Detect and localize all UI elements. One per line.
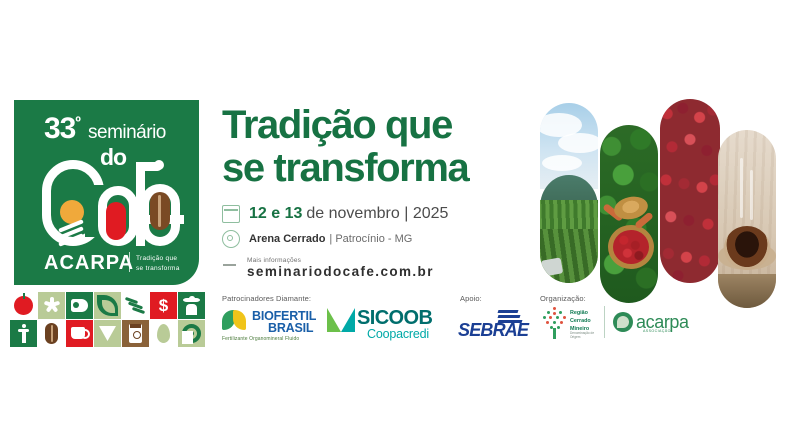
event-info: 12 e 13 de novembro | 2025 Arena Cerrado… [222,205,512,286]
sicoob-logo[interactable]: SICOOB Coopacredi [327,306,445,342]
photo-strip-group [530,95,790,290]
biofertil-tagline: Fertilizante Organomineral Fluido [222,336,299,342]
coffee-flower-icon [38,292,65,319]
coffee-cherries-photo [660,99,720,283]
more-info-label: Mais informações [247,257,434,264]
sebrae-logo[interactable]: SEBRAE [458,310,534,338]
regiao-name: Região Cerrado Mineiro [570,310,591,333]
regiao-sub: Denominação de Origem [570,331,604,339]
acarpa-mark-icon [613,312,633,332]
biofertil-leaf-right-icon [233,310,246,330]
coffee-bean-icon [38,320,65,347]
headline-line2: se transforma [222,147,542,190]
coffee-tree-icon [542,307,568,339]
event-venue-rest: | Patrocínio - MG [329,233,412,245]
acarpa-wordmark: ACARPA [44,252,134,275]
coffee-harvest-worker-photo [600,125,658,303]
coffee-cup-icon [66,320,93,347]
coffee-icon-grid: $ [10,292,205,347]
website-url[interactable]: seminariodocafe.com.br [247,264,434,279]
location-pin-icon [222,230,240,248]
sicoob-triangle-inner-icon [336,308,348,319]
diamond-sponsors-label: Patrocinadores Diamante: [222,294,311,303]
organizers-divider [604,306,605,338]
water-drop-icon [150,320,177,347]
edition-number: 33º [44,114,80,144]
calendar-icon [222,205,240,223]
event-venue-row: Arena Cerrado | Patrocínio - MG [222,230,512,248]
acarpa-sponsor-logo[interactable]: acarpa ASSOCIAÇÃO [613,312,693,338]
logo-tagline-line1: Tradição que [136,254,180,264]
regiao-cerrado-mineiro-logo[interactable]: Região Cerrado Mineiro Denominação de Or… [542,307,604,341]
event-date-rest: de novembro | 2025 [306,205,448,223]
brewed-coffee-cup-photo [718,130,776,308]
acarpa-sub: ASSOCIAÇÃO [643,329,671,333]
support-label: Apoio: [460,294,482,303]
coffee-plantation-landscape-photo [540,103,598,283]
page-title: Tradição que se transforma [222,104,542,190]
dollar-icon: $ [150,292,177,319]
seminario-word: seminário [88,122,166,144]
event-website-row[interactable]: Mais informações seminariodocafe.com.br [222,257,512,279]
handshake-icon [122,292,149,319]
logo-tagline-line2: se transforma [136,264,180,274]
sicoob-sub: Coopacredi [367,327,429,341]
christ-statue-icon [10,320,37,347]
hand-bean-icon [66,292,93,319]
website-block[interactable]: Mais informações seminariodocafe.com.br [247,257,434,279]
bean-graphic [150,192,170,230]
logo-tagline: Tradição que se transforma [136,254,180,274]
event-banner: 33º seminário do ACARPA Tradição que se … [0,0,790,444]
dash-icon [222,257,238,273]
event-date-strong: 12 e 13 [249,205,302,223]
cherry-graphic [106,202,126,240]
event-venue-strong: Arena Cerrado [249,233,325,245]
sebrae-name: SEBRAE [458,320,528,341]
coffee-cherry-icon [10,292,37,319]
event-logo-block: 33º seminário do ACARPA Tradição que se … [14,100,199,285]
farmer-icon [178,292,205,319]
organizers-label: Organização: [540,294,586,303]
accent-dot [154,160,164,170]
biofertil-line2: BRASIL [268,321,313,335]
sustainability-cycle-icon [178,320,205,347]
leaves-graphic [58,222,88,244]
headline-line1: Tradição que [222,104,542,147]
paper-filter-icon [94,320,121,347]
biofertil-logo[interactable]: BIOFERTIL BRASIL Fertilizante Organomine… [222,306,322,344]
logo-divider [129,252,130,272]
cafe-wordmark [36,156,186,248]
event-date-row: 12 e 13 de novembro | 2025 [222,205,512,223]
coffee-bag-icon [122,320,149,347]
leaf-icon [94,292,121,319]
